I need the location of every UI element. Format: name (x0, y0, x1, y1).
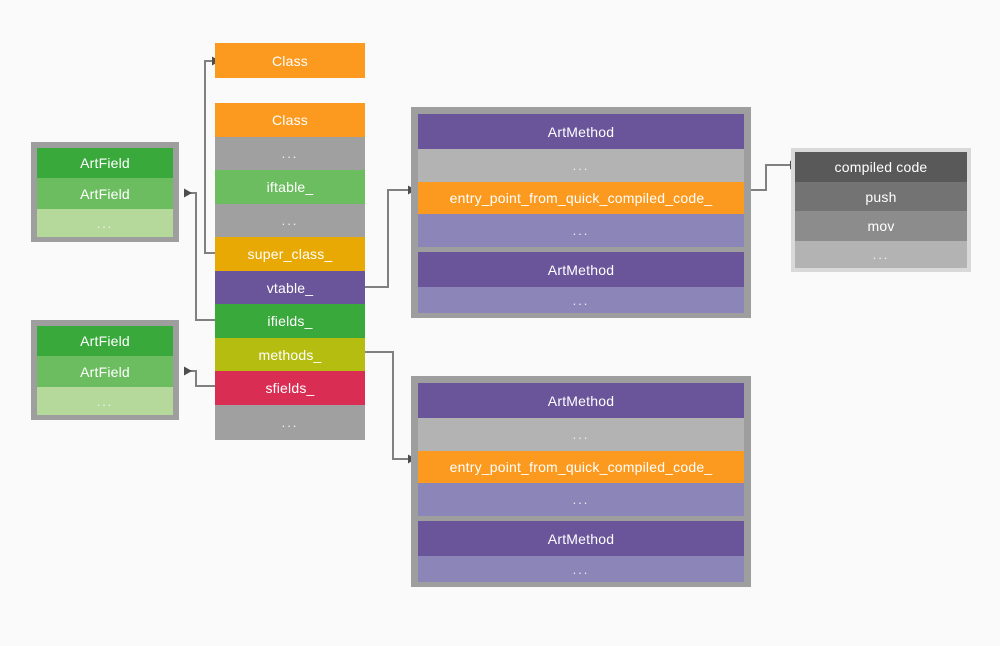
compiled-code-row-push-label: push (865, 190, 896, 204)
artmethod-top-row-ellipsis-3: ... (418, 287, 744, 313)
artmethod-top-row-ellipsis-2: ... (418, 214, 744, 247)
connector-methods (365, 352, 408, 459)
class-row-sfields[interactable]: sfields_ (215, 371, 365, 405)
artmethod-bottom-row-artmethod-1-label: ArtMethod (548, 394, 614, 408)
artfield-bottom-row-1-label: ArtField (80, 334, 130, 348)
class-row-class-label: Class (272, 113, 308, 127)
class-header-row: Class (215, 43, 365, 78)
class-header-box[interactable]: Class (215, 43, 365, 78)
diagram-canvas: Class Class ... iftable_ ... super_class… (0, 0, 1000, 646)
artmethod-bottom-row-artmethod-2[interactable]: ArtMethod (418, 521, 744, 556)
artfield-top-row-3: ... (37, 209, 173, 237)
class-row-ellipsis-3-label: ... (282, 416, 299, 429)
class-box[interactable]: Class ... iftable_ ... super_class_ vtab… (215, 103, 365, 440)
artmethod-bottom-row-artmethod-1[interactable]: ArtMethod (418, 383, 744, 418)
class-row-ellipsis-2: ... (215, 204, 365, 237)
connector-ifields (184, 193, 216, 320)
class-row-ellipsis-1: ... (215, 137, 365, 170)
class-header-label: Class (272, 54, 308, 68)
artmethod-bottom-row-ellipsis-2: ... (418, 483, 744, 516)
artfield-top-row-2-label: ArtField (80, 187, 130, 201)
artmethod-top-row-ellipsis-1-label: ... (573, 159, 590, 172)
artmethod-bottom-row-ellipsis-2-label: ... (573, 493, 590, 506)
artmethod-top-row-entry-point-label: entry_point_from_quick_compiled_code_ (450, 191, 713, 205)
class-row-methods-label: methods_ (258, 348, 321, 362)
artmethod-box-top[interactable]: ArtMethod ... entry_point_from_quick_com… (411, 107, 751, 318)
artmethod-bottom-row-entry-point-label: entry_point_from_quick_compiled_code_ (450, 460, 713, 474)
artmethod-top-row-ellipsis-3-label: ... (573, 294, 590, 307)
artmethod-top-row-entry-point[interactable]: entry_point_from_quick_compiled_code_ (418, 182, 744, 214)
artfield-bottom-row-3: ... (37, 387, 173, 415)
class-row-vtable[interactable]: vtable_ (215, 271, 365, 304)
compiled-code-row-header[interactable]: compiled code (795, 152, 967, 182)
artmethod-box-bottom[interactable]: ArtMethod ... entry_point_from_quick_com… (411, 376, 751, 587)
class-row-vtable-label: vtable_ (267, 281, 314, 295)
compiled-code-row-ellipsis-label: ... (873, 248, 890, 261)
artmethod-bottom-row-ellipsis-3: ... (418, 556, 744, 582)
class-row-ellipsis-3: ... (215, 405, 365, 440)
artfield-top-row-2[interactable]: ArtField (37, 178, 173, 209)
class-row-ellipsis-1-label: ... (282, 147, 299, 160)
compiled-code-row-mov-label: mov (867, 219, 894, 233)
artmethod-bottom-row-artmethod-2-label: ArtMethod (548, 532, 614, 546)
class-row-super-class-label: super_class_ (248, 247, 333, 261)
artmethod-top-row-artmethod-1[interactable]: ArtMethod (418, 114, 744, 149)
artmethod-top-row-ellipsis-2-label: ... (573, 224, 590, 237)
artmethod-top-row-artmethod-2[interactable]: ArtMethod (418, 252, 744, 287)
artfield-top-row-1[interactable]: ArtField (37, 148, 173, 178)
artfield-bottom-row-3-label: ... (97, 395, 114, 408)
class-row-iftable[interactable]: iftable_ (215, 170, 365, 204)
class-row-class[interactable]: Class (215, 103, 365, 137)
class-row-iftable-label: iftable_ (267, 180, 314, 194)
class-row-ifields[interactable]: ifields_ (215, 304, 365, 338)
compiled-code-box[interactable]: compiled code push mov ... (791, 148, 971, 272)
artmethod-bottom-row-ellipsis-1: ... (418, 418, 744, 451)
connector-entry-point (748, 165, 790, 190)
artfield-bottom-row-2[interactable]: ArtField (37, 356, 173, 387)
compiled-code-row-push[interactable]: push (795, 182, 967, 211)
artfield-top-row-3-label: ... (97, 217, 114, 230)
artmethod-bottom-row-entry-point[interactable]: entry_point_from_quick_compiled_code_ (418, 451, 744, 483)
artmethod-top-row-artmethod-2-label: ArtMethod (548, 263, 614, 277)
artfield-bottom-row-1[interactable]: ArtField (37, 326, 173, 356)
artfield-bottom-row-2-label: ArtField (80, 365, 130, 379)
class-row-sfields-label: sfields_ (265, 381, 314, 395)
compiled-code-row-mov[interactable]: mov (795, 211, 967, 241)
artmethod-bottom-row-ellipsis-3-label: ... (573, 563, 590, 576)
artmethod-top-row-artmethod-1-label: ArtMethod (548, 125, 614, 139)
artmethod-top-row-ellipsis-1: ... (418, 149, 744, 182)
class-row-methods[interactable]: methods_ (215, 338, 365, 371)
artfield-box-bottom[interactable]: ArtField ArtField ... (31, 320, 179, 420)
connector-vtable (365, 190, 408, 287)
artmethod-bottom-row-ellipsis-1-label: ... (573, 428, 590, 441)
class-row-ifields-label: ifields_ (267, 314, 312, 328)
artfield-box-top[interactable]: ArtField ArtField ... (31, 142, 179, 242)
artfield-top-row-1-label: ArtField (80, 156, 130, 170)
class-row-ellipsis-2-label: ... (282, 214, 299, 227)
connector-sfields (184, 371, 216, 386)
compiled-code-row-header-label: compiled code (835, 160, 928, 174)
class-row-super-class[interactable]: super_class_ (215, 237, 365, 271)
compiled-code-row-ellipsis: ... (795, 241, 967, 268)
